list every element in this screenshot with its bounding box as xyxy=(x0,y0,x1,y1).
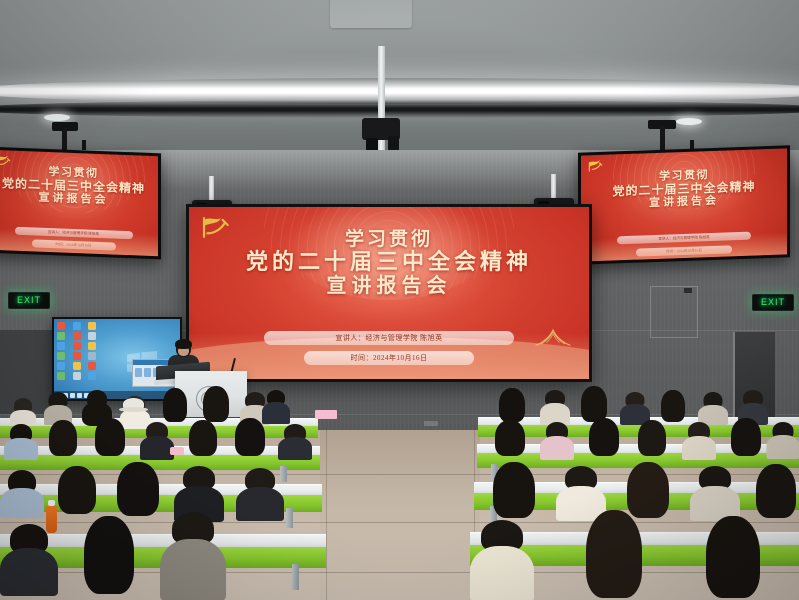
audience-member xyxy=(540,390,570,424)
desktop-icon[interactable] xyxy=(57,332,65,340)
dialog-item[interactable] xyxy=(144,368,151,377)
exit-sign-glyph-icon: EXIT xyxy=(761,298,785,307)
audience-member xyxy=(112,462,164,518)
main-presentation-screen: 学习贯彻 党的二十届三中全会精神 宣讲报告会 宣讲人：经济与管理学院 陈旭英 时… xyxy=(186,204,592,382)
audience-member xyxy=(540,422,574,458)
desktop-icon[interactable] xyxy=(73,332,81,340)
desktop-icon[interactable] xyxy=(57,342,65,350)
audience-member xyxy=(4,424,38,458)
desktop-icon[interactable] xyxy=(57,372,65,380)
desktop-icon[interactable] xyxy=(88,362,96,370)
screen-date-pill: 时间：2024年10月16日 xyxy=(304,351,474,365)
audience-member xyxy=(766,422,799,458)
right-projector-pole xyxy=(551,174,556,200)
screen-speaker-pill: 宣讲人：经济与管理学院 陈旭英 xyxy=(264,331,514,345)
desktop-icon[interactable] xyxy=(73,372,81,380)
audience-member xyxy=(140,422,174,458)
desktop-icon[interactable] xyxy=(57,322,65,330)
wall-vent xyxy=(424,421,438,426)
speaker-hair xyxy=(175,339,192,349)
desktop-icon[interactable] xyxy=(88,352,96,360)
left-wall-monitor: 学习贯彻 党的二十届三中全会精神 宣讲报告会 宣讲人：经济与管理学院 陈旭英 时… xyxy=(0,147,161,260)
ceiling-mount-pole xyxy=(378,46,385,166)
wall-access-latch xyxy=(684,288,692,293)
desktop-icon[interactable] xyxy=(88,342,96,350)
wall-access-panel xyxy=(650,286,698,338)
audience-member xyxy=(496,388,528,424)
audience-member xyxy=(0,524,58,594)
audience-member xyxy=(682,422,716,458)
desktop-icon[interactable] xyxy=(73,342,81,350)
audience-member xyxy=(54,466,100,516)
right-wall-monitor: 学习贯彻 党的二十届三中全会精神 宣讲报告会 宣讲人：经济与管理学院 陈旭英 时… xyxy=(578,145,790,264)
audience-member xyxy=(278,424,312,458)
audience-member xyxy=(92,418,128,458)
exit-sign-glyph-icon: EXIT xyxy=(17,296,41,305)
desk-leg xyxy=(286,508,293,528)
audience-member xyxy=(690,466,740,520)
desktop-icon[interactable] xyxy=(57,352,65,360)
right-monitor-title-block: 学习贯彻 党的二十届三中全会精神 宣讲报告会 xyxy=(581,166,787,212)
right-monitor-bottom-glow xyxy=(581,232,787,261)
audience-member xyxy=(658,390,688,424)
audience-member xyxy=(470,520,534,600)
aisle-edge-left xyxy=(326,430,327,600)
desktop-icon[interactable] xyxy=(57,362,65,370)
desktop-icon[interactable] xyxy=(88,322,96,330)
audience-member xyxy=(46,420,80,458)
center-aisle xyxy=(320,430,480,600)
desk-leg xyxy=(292,564,299,590)
audience-member xyxy=(488,462,540,520)
ceiling-spot-light-left xyxy=(44,114,70,121)
audience-member xyxy=(586,418,622,458)
cap-brim xyxy=(119,407,148,412)
audience-member xyxy=(160,512,226,600)
lecture-hall-photo: EXIT EXIT 学习贯彻 党的二十届三中全会精神 宣讲报告会 宣讲人：经济与… xyxy=(0,0,799,600)
bottle-cap xyxy=(48,500,55,506)
exit-sign-right: EXIT xyxy=(752,294,794,311)
desktop-icon[interactable] xyxy=(88,332,96,340)
audience-member xyxy=(580,510,648,600)
screen-speaker-text: 宣讲人：经济与管理学院 陈旭英 xyxy=(335,333,442,343)
audience-member xyxy=(186,420,220,458)
audience-member xyxy=(700,516,766,600)
audience-member xyxy=(728,418,764,458)
screen-date-text: 时间：2024年10月16日 xyxy=(351,353,428,363)
audience-member xyxy=(232,418,268,458)
audience-member xyxy=(698,392,728,424)
right-monitor-arm xyxy=(660,126,665,152)
screen-title-line3: 宣讲报告会 xyxy=(189,275,589,297)
desktop-icon[interactable] xyxy=(73,352,81,360)
audience-member xyxy=(634,420,670,458)
audience-member xyxy=(492,420,528,458)
dialog-item[interactable] xyxy=(135,368,142,377)
ceiling-spot-light-right xyxy=(676,118,702,125)
wheat-decoration-icon xyxy=(533,327,573,349)
smartphone[interactable] xyxy=(170,447,184,455)
ceiling-dark-beam xyxy=(0,100,799,118)
audience-member xyxy=(160,388,190,424)
screen-title-block: 学习贯彻 党的二十届三中全会精神 宣讲报告会 xyxy=(189,229,589,297)
desktop-icon[interactable] xyxy=(73,362,81,370)
audience-member xyxy=(0,470,44,516)
screen-title-line2: 党的二十届三中全会精神 xyxy=(189,250,589,275)
audience-member xyxy=(78,516,140,596)
left-monitor-bottom-glow xyxy=(0,228,158,256)
exit-sign-left: EXIT xyxy=(8,292,50,309)
audience-member xyxy=(236,468,284,520)
audience-member xyxy=(200,386,232,424)
desktop-icons-group[interactable] xyxy=(57,322,101,380)
left-projector-pole xyxy=(209,176,214,202)
desk-name-card xyxy=(315,410,337,419)
ceiling-panel xyxy=(330,0,412,28)
desktop-icon[interactable] xyxy=(73,322,81,330)
audience-member xyxy=(752,464,799,520)
left-monitor-title-block: 学习贯彻 党的二十届三中全会精神 宣讲报告会 xyxy=(0,164,158,210)
screen-title-line1: 学习贯彻 xyxy=(189,229,589,250)
audience-member xyxy=(10,398,36,424)
desktop-icon[interactable] xyxy=(88,372,96,380)
